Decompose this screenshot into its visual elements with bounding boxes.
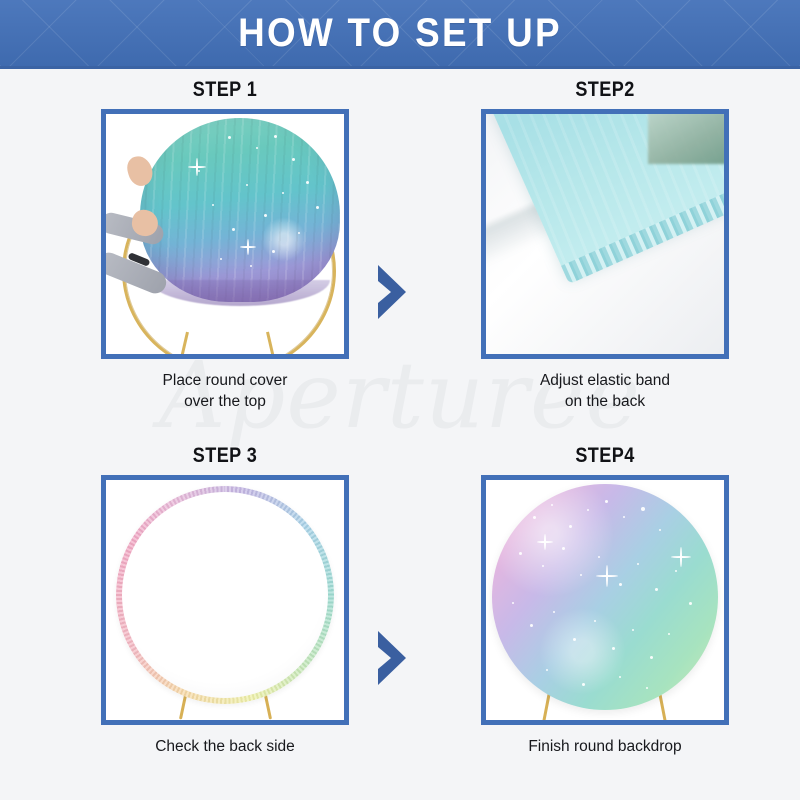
sparkle-icon — [240, 239, 256, 255]
step-image-frame-4 — [481, 475, 729, 725]
step-caption-4: Finish round backdrop — [440, 736, 770, 757]
rim-stitch-texture — [116, 486, 334, 704]
star-dots-group-1 — [140, 118, 340, 302]
step-card-1: STEP 1 — [60, 79, 390, 413]
step-card-4: STEP4 — [440, 445, 770, 757]
step-caption-1: Place round cover over the top — [60, 370, 390, 413]
step-image-2 — [486, 114, 724, 354]
gradient-cover-fabric — [140, 118, 340, 302]
sparkle-icon — [188, 158, 206, 176]
page-title: HOW TO SET UP — [32, 0, 768, 66]
sparkle-icon — [596, 565, 618, 587]
finished-round-backdrop — [492, 484, 718, 710]
star-dots-group-4 — [492, 484, 718, 710]
step-label-4: STEP4 — [463, 445, 747, 466]
step-card-2: STEP2 Adjust elastic band on the back — [440, 79, 770, 413]
step-label-3: STEP 3 — [83, 445, 367, 466]
header-banner: HOW TO SET UP — [0, 0, 800, 66]
step-image-frame-3 — [101, 475, 349, 725]
step-caption-2-line2: on the back — [440, 391, 770, 412]
step-image-4 — [486, 480, 724, 720]
chevron-right-row2-icon — [376, 631, 406, 685]
step-caption-3-line1: Check the back side — [60, 736, 390, 757]
steps-grid: STEP 1 — [0, 69, 800, 800]
chevron-right-row1-icon — [376, 265, 406, 319]
step-image-frame-2 — [481, 109, 729, 359]
step-caption-3: Check the back side — [60, 736, 390, 757]
step-image-1 — [106, 114, 344, 354]
step-caption-2-line1: Adjust elastic band — [440, 370, 770, 391]
step-caption-2: Adjust elastic band on the back — [440, 370, 770, 413]
background-blur-corner — [648, 112, 726, 164]
sparkle-icon — [537, 534, 553, 550]
sparkle-icon — [671, 547, 691, 567]
step-caption-4-line1: Finish round backdrop — [440, 736, 770, 757]
step-label-1: STEP 1 — [83, 79, 367, 100]
step-caption-1-line2: over the top — [60, 391, 390, 412]
step-label-2: STEP2 — [463, 79, 747, 100]
step-card-3: STEP 3 Check the back side — [60, 445, 390, 757]
step-caption-1-line1: Place round cover — [60, 370, 390, 391]
step-image-frame-1 — [101, 109, 349, 359]
step-image-3 — [106, 480, 344, 720]
